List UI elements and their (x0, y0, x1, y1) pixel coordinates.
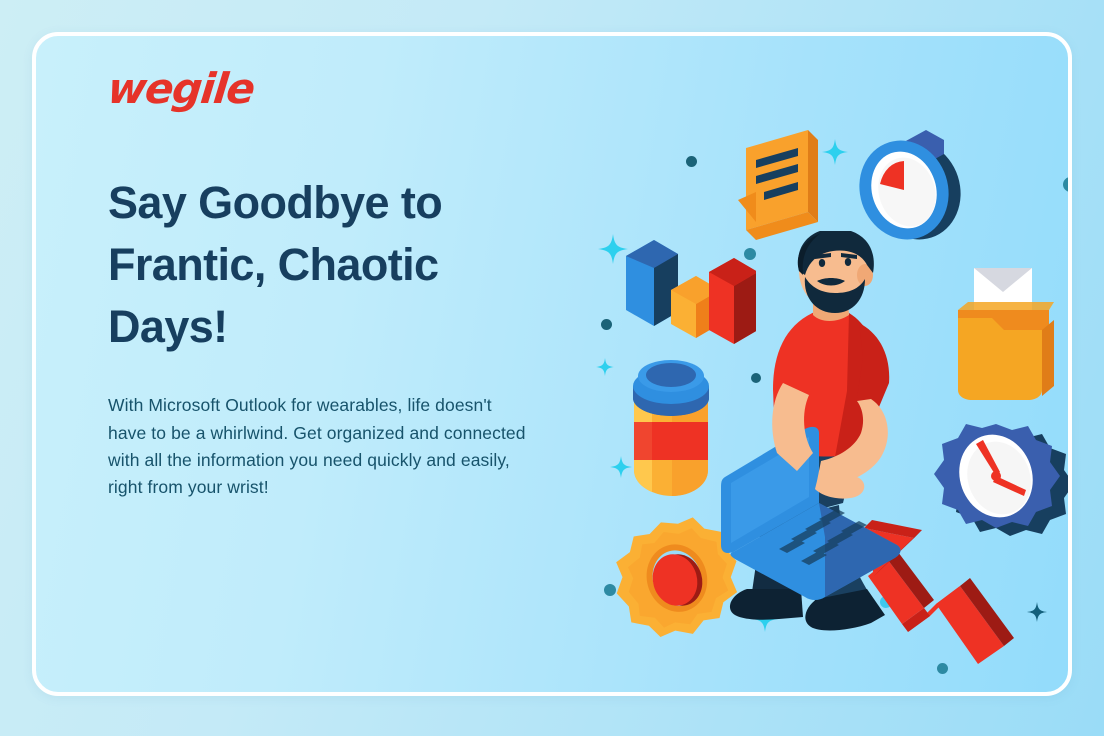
promo-card: wegile Say Goodbye to Frantic, Chaotic D… (32, 32, 1072, 696)
banner-root: wegile Say Goodbye to Frantic, Chaotic D… (0, 0, 1104, 736)
folder-envelope-icon (944, 258, 1069, 413)
decor-dot (1070, 325, 1072, 333)
wegile-logo[interactable]: wegile (106, 68, 550, 110)
coffee-cup-icon (616, 346, 726, 511)
decor-dot (1063, 177, 1072, 192)
decor-dot (601, 319, 612, 330)
page-title: Say Goodbye to Frantic, Chaotic Days! (108, 172, 528, 358)
text-column: wegile Say Goodbye to Frantic, Chaotic D… (108, 68, 548, 501)
stopwatch-icon (856, 128, 966, 248)
illustration (536, 36, 1072, 692)
document-icon (736, 126, 826, 246)
decor-dot (686, 156, 697, 167)
person-with-laptop (721, 231, 951, 636)
body-paragraph: With Microsoft Outlook for wearables, li… (108, 392, 528, 501)
sparkle-icon (596, 358, 614, 381)
sparkle-icon (1027, 602, 1047, 627)
